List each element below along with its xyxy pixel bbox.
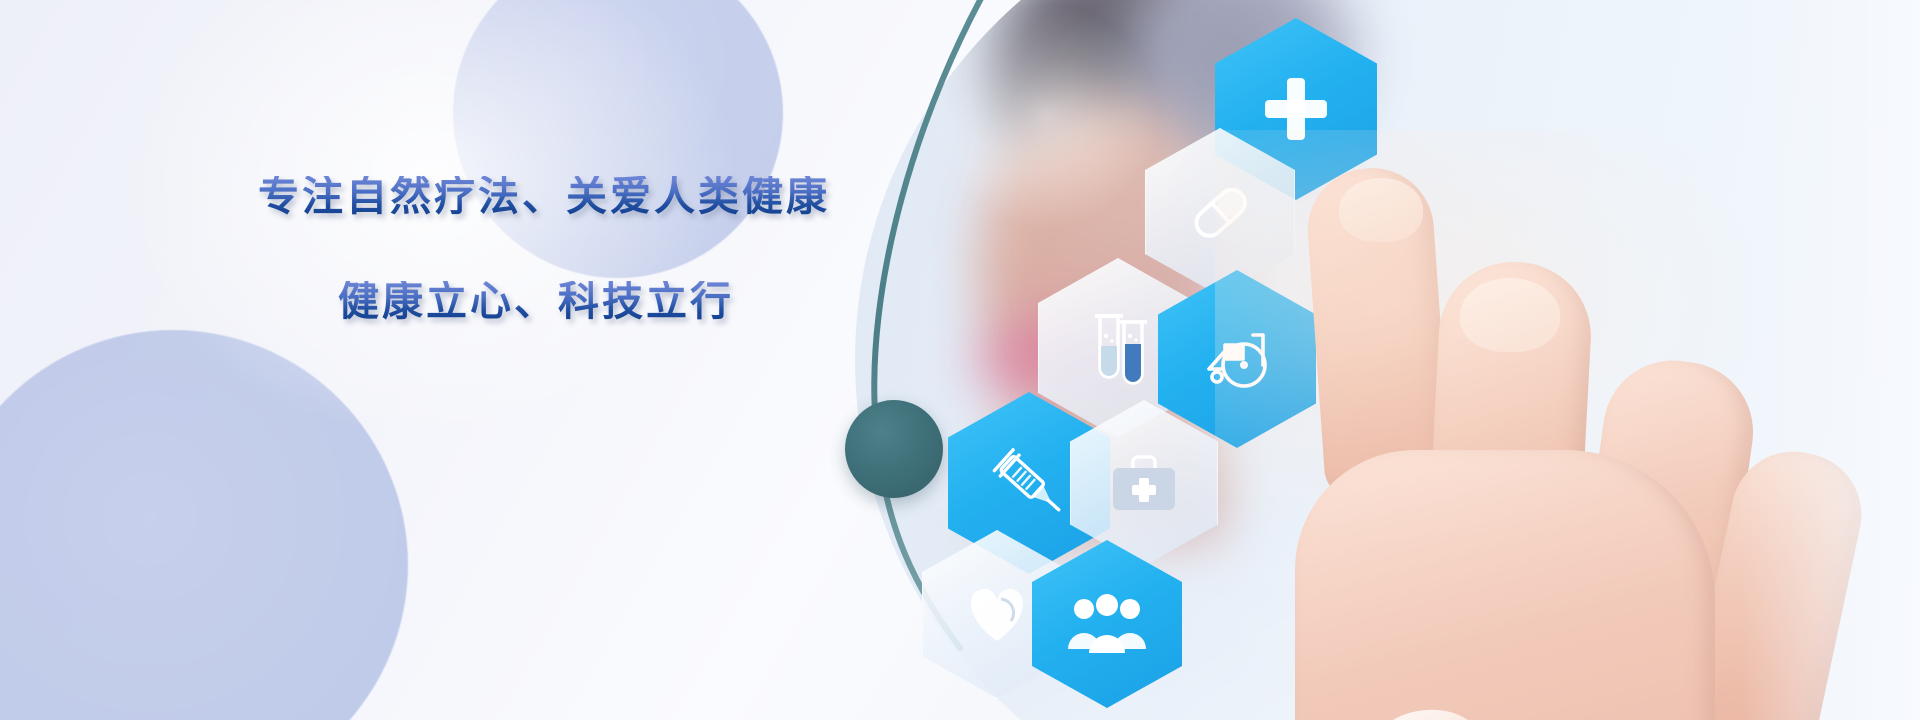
pointing-hand <box>1255 150 1920 720</box>
headline-line-2: 健康立心、科技立行 <box>338 281 878 322</box>
teal-dot <box>845 400 943 498</box>
middle-fingernail <box>1460 278 1560 352</box>
cross-glow <box>930 0 1162 232</box>
hex-tile-first-aid-kit[interactable] <box>1070 400 1218 566</box>
capsule-pill-icon <box>1180 172 1260 252</box>
headline-line-1: 专注自然疗法、关爱人类健康 <box>258 176 878 217</box>
decor-circle-bottom <box>0 330 408 720</box>
hero-banner: 专注自然疗法、关爱人类健康 健康立心、科技立行 <box>0 0 1920 720</box>
headline-block: 专注自然疗法、关爱人类健康 健康立心、科技立行 <box>258 176 878 322</box>
test-tubes-icon <box>1080 306 1156 390</box>
syringe-icon <box>985 439 1073 527</box>
heart-icon <box>959 579 1035 649</box>
first-aid-kit-icon <box>1107 450 1181 516</box>
people-group-icon <box>1066 591 1148 657</box>
palm <box>1295 450 1715 720</box>
index-fingernail <box>1339 178 1423 242</box>
medical-cross-icon <box>1257 70 1335 148</box>
